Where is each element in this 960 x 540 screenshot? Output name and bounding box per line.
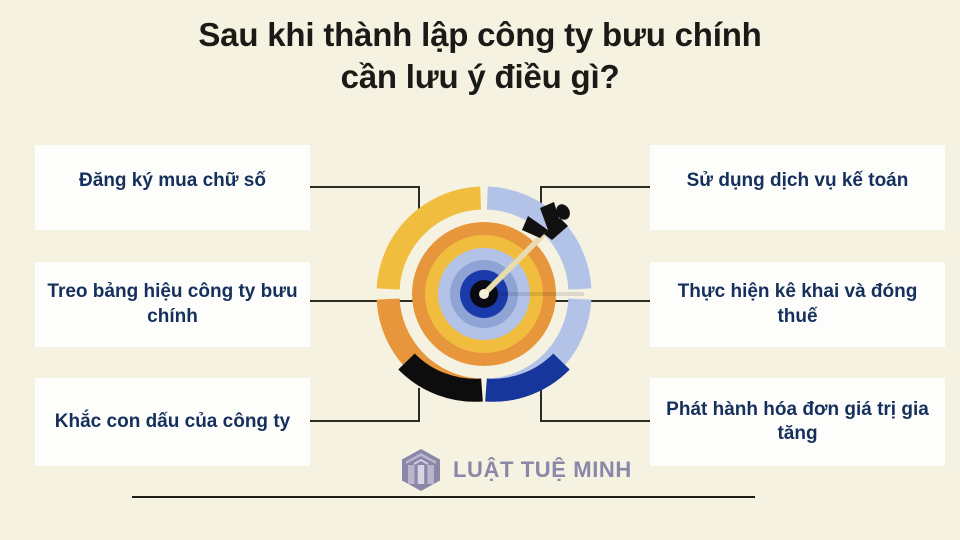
infographic-canvas: Sau khi thành lập công ty bưu chính cần … <box>0 0 960 540</box>
callout-right-2: Thực hiện kê khai và đóng thuế <box>650 262 945 347</box>
callout-left-1-label: Đăng ký mua chữ số <box>47 169 298 193</box>
segment-bottom-left <box>407 362 483 391</box>
callout-right-1-label: Sử dụng dịch vụ kế toán <box>662 169 933 193</box>
arrow-impact-point <box>479 289 489 299</box>
title-line-1: Sau khi thành lập công ty bưu chính <box>0 14 960 56</box>
connector-left-3-horizontal <box>310 420 420 422</box>
target-dartboard <box>372 182 596 406</box>
footer-divider <box>132 496 755 498</box>
callout-left-3-label: Khắc con dấu của công ty <box>47 410 298 434</box>
callout-left-3: Khắc con dấu của công ty <box>35 378 310 466</box>
callout-right-3: Phát hành hóa đơn giá trị gia tăng <box>650 378 945 466</box>
connector-right-3-horizontal <box>540 420 650 422</box>
segment-bottom-right <box>486 362 562 391</box>
title-line-2: cần lưu ý điều gì? <box>0 56 960 98</box>
callout-left-1: Đăng ký mua chữ số <box>35 145 310 230</box>
page-title: Sau khi thành lập công ty bưu chính cần … <box>0 14 960 98</box>
brand-logo: LUẬT TUỆ MINH <box>398 447 632 493</box>
callout-left-2: Treo bảng hiệu công ty bưu chính <box>35 262 310 347</box>
callout-left-2-label: Treo bảng hiệu công ty bưu chính <box>47 280 298 329</box>
brand-logo-text: LUẬT TUỆ MINH <box>453 457 632 483</box>
callout-right-2-label: Thực hiện kê khai và đóng thuế <box>662 280 933 329</box>
center-shadow <box>484 292 584 296</box>
luat-tue-minh-monogram-icon <box>398 447 444 493</box>
callout-right-3-label: Phát hành hóa đơn giá trị gia tăng <box>662 398 933 447</box>
callout-right-1: Sử dụng dịch vụ kế toán <box>650 145 945 230</box>
